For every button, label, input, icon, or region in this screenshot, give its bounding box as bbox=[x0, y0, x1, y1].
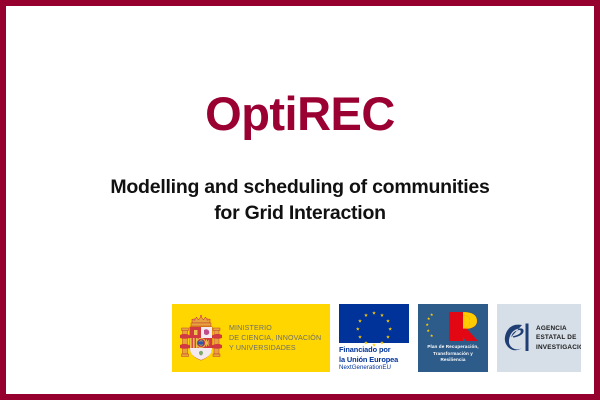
aei-label-line-2: ESTATAL DE bbox=[536, 333, 581, 343]
prtr-label-line-1: Plan de Recuperación, bbox=[427, 344, 478, 351]
ministerio-label-line-3: Y UNIVERSIDADES bbox=[229, 343, 321, 353]
eu-label-line-2: la Unión Europea bbox=[339, 355, 409, 364]
logo-european-union: Financiado por la Unión Europea NextGene… bbox=[339, 304, 409, 372]
eu-label-line-1: Financiado por bbox=[339, 345, 409, 354]
eu-label: Financiado por la Unión Europea NextGene… bbox=[339, 343, 409, 372]
page-title: OptiREC bbox=[6, 90, 594, 137]
logo-ministerio-ciencia: MINISTERIO DE CIENCIA, INNOVACIÓN Y UNIV… bbox=[172, 304, 330, 372]
ministerio-label-line-2: DE CIENCIA, INNOVACIÓN bbox=[229, 333, 321, 343]
eu-flag-icon bbox=[339, 304, 409, 343]
spanish-coat-of-arms-icon bbox=[179, 311, 223, 365]
aei-label: AGENCIA ESTATAL DE INVESTIGACIÓN bbox=[532, 324, 581, 353]
title-block: OptiREC Modelling and scheduling of comm… bbox=[6, 90, 594, 226]
aei-label-line-3: INVESTIGACIÓN bbox=[536, 343, 581, 353]
eu-label-line-3: NextGenerationEU bbox=[339, 364, 409, 372]
logo-plan-recuperacion: Plan de Recuperación, Transformación y R… bbox=[418, 304, 488, 372]
prtr-label-line-3: Resiliencia bbox=[427, 357, 478, 364]
prtr-label: Plan de Recuperación, Transformación y R… bbox=[427, 342, 478, 364]
funding-logo-strip: MINISTERIO DE CIENCIA, INNOVACIÓN Y UNIV… bbox=[172, 304, 581, 372]
prtr-monogram-icon bbox=[425, 310, 481, 342]
slide-container: OptiREC Modelling and scheduling of comm… bbox=[0, 0, 600, 400]
ministerio-label: MINISTERIO DE CIENCIA, INNOVACIÓN Y UNIV… bbox=[223, 323, 321, 353]
logo-agencia-estatal-investigacion: AGENCIA ESTATAL DE INVESTIGACIÓN bbox=[497, 304, 581, 372]
prtr-label-line-2: Transformación y bbox=[427, 351, 478, 358]
subtitle-line-1: Modelling and scheduling of communities bbox=[110, 176, 489, 198]
ei-monogram-icon bbox=[502, 320, 532, 356]
subtitle-line-2: for Grid Interaction bbox=[214, 202, 386, 224]
page-subtitle: Modelling and scheduling of communities … bbox=[6, 137, 594, 226]
ministerio-label-line-1: MINISTERIO bbox=[229, 323, 321, 333]
aei-label-line-1: AGENCIA bbox=[536, 324, 581, 334]
